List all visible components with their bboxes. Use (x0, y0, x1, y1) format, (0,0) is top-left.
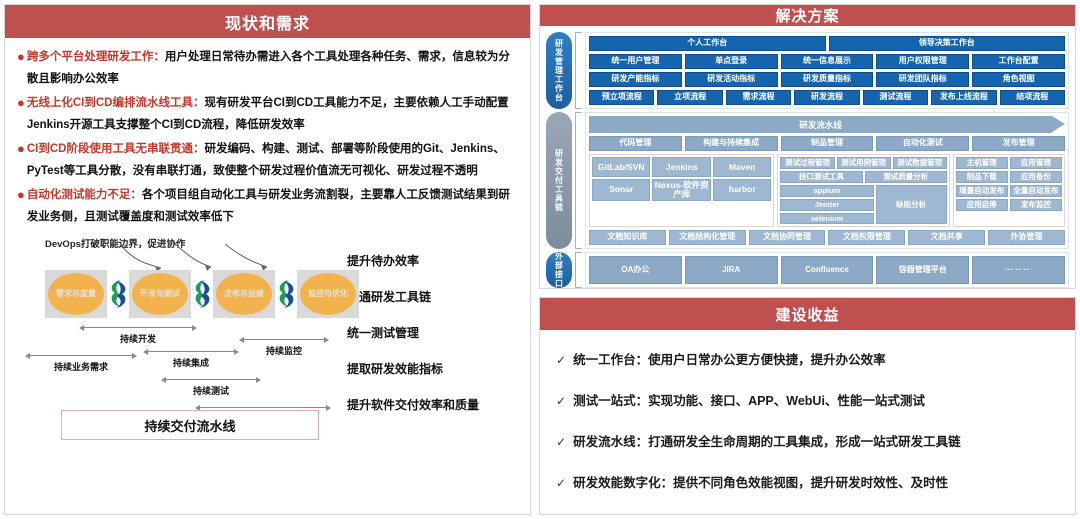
tool-defect-analysis[interactable]: 缺陷分析 (876, 185, 947, 225)
stage-box: 需求与度量 (45, 270, 107, 318)
box-team-metric[interactable]: 研发团队指标 (876, 72, 969, 87)
right-column: 解决方案 研发管理工作台 个人工作台 领导决策工作台 统一用户管理 单点登录 (539, 4, 1076, 515)
list-item: 统一测试管理 (347, 324, 479, 341)
tool-release-monitor[interactable]: 发布监控 (1010, 199, 1062, 211)
layer-tab-workbench: 研发管理工作台 (546, 32, 572, 109)
devops-stage-row: 需求与度量 开发与测试 (45, 270, 359, 318)
box-rd-flow[interactable]: 研发流程 (794, 90, 859, 105)
tool-incremental-deploy[interactable]: 增量自动发布 (956, 185, 1008, 197)
box-user-permission-mgmt[interactable]: 用户权限管理 (876, 54, 969, 69)
box-doc-share[interactable]: 文档共享 (908, 230, 985, 245)
bullet-dot-icon: ● (17, 138, 25, 161)
bracket-icon (575, 252, 582, 288)
tool-test-case-mgmt[interactable]: 测试用例管理 (837, 157, 891, 169)
box-personal-workbench[interactable]: 个人工作台 (589, 36, 826, 51)
list-item: ● 自动化测试能力不足：各个项目组自动化工具与研发业务流割裂，主要靠人工反馈测试… (17, 184, 518, 229)
tool-test-data-mgmt[interactable]: 测试数据管理 (893, 157, 947, 169)
stage-label: 发布与运维 (216, 273, 272, 315)
list-item: ● CI到CD阶段使用工具无串联贯通：研发编码、构建、测试、部署等阶段使用的Gi… (17, 138, 518, 183)
stage-box: 监控与优化 (297, 270, 359, 318)
box-outsourcing-mgmt[interactable]: 外协管理 (988, 230, 1065, 245)
box-project-flow[interactable]: 立项流程 (657, 90, 722, 105)
benefit-panel: 建设收益 ✓ 统一工作台：使用户日常办公更方便快捷，提升办公效率 ✓ 测试一站式… (539, 297, 1076, 515)
box-capacity-metric[interactable]: 研发产能指标 (589, 72, 682, 87)
box-doc-structured-mgmt[interactable]: 文档结构化管理 (669, 230, 746, 245)
box-code-mgmt[interactable]: 代码管理 (589, 136, 682, 151)
span-label: 持续开发 (79, 332, 197, 345)
box-container-platform[interactable]: 容器管理平台 (876, 256, 969, 284)
span-item: 持续开发 (79, 322, 197, 342)
benefit-text: 研发效能数字化：提供不同角色效能视图，提升研发时效性、及时性 (573, 474, 948, 493)
list-item: ✓ 研发流水线：打通研发全生命周期的工具集成，形成一站式研发工具链 (556, 433, 1059, 452)
box-test-flow[interactable]: 测试流程 (863, 90, 928, 105)
tool-full-deploy[interactable]: 全量自动发布 (1010, 185, 1062, 197)
stage-label: 监控与优化 (300, 273, 356, 315)
current-state-bullet-list: ● 跨多个平台处理研发工作：用户处理日常待办需进入各个工具处理各种任务、需求，信… (17, 46, 518, 228)
tool-row: GitLab/SVN Jenkins Maven (592, 157, 771, 177)
list-item: ✓ 测试一站式：实现功能、接口、APP、WebUi、性能一站式测试 (556, 392, 1059, 411)
check-icon: ✓ (556, 351, 566, 369)
box-pre-project-flow[interactable]: 预立项流程 (589, 90, 654, 105)
bracket-icon (575, 112, 582, 249)
left-panel-body: ● 跨多个平台处理研发工作：用户处理日常待办需进入各个工具处理各种任务、需求，信… (5, 38, 530, 514)
tool-test-process-mgmt[interactable]: 测试过程管理 (780, 157, 834, 169)
tool-group-scm: GitLab/SVN Jenkins Maven Sonar Nexus-软件资… (589, 154, 774, 227)
check-icon: ✓ (556, 474, 566, 492)
benefit-list: ✓ 统一工作台：使用户日常办公更方便快捷，提升办公效率 ✓ 测试一站式：实现功能… (540, 330, 1075, 514)
workbench-row-3: 研发产能指标 研发活动指标 研发质量指标 研发团队指标 角色视图 (589, 72, 1065, 87)
span-item: 持续集成 (143, 346, 239, 366)
list-item: ✓ 研发效能数字化：提供不同角色效能视图，提升研发时效性、及时性 (556, 474, 1059, 493)
tool-artifact-download[interactable]: 制品下载 (956, 171, 1008, 183)
bracket-icon (575, 32, 582, 109)
swirl-icon (107, 274, 129, 314)
slide-root: 现状和需求 ● 跨多个平台处理研发工作：用户处理日常待办需进入各个工具处理各种任… (0, 0, 1080, 519)
box-release-mgmt[interactable]: 发布管理 (972, 136, 1065, 151)
bullet-key: 无线上化CI到CD编排流水线工具： (27, 97, 205, 109)
tool-harbor[interactable]: harbor (713, 179, 771, 201)
stage-label: 需求与度量 (48, 273, 104, 315)
layer-external: 外部接口 OA办公 JIRA Confluence 容器管理平台 ·······… (546, 252, 1069, 288)
tool-groups-row: GitLab/SVN Jenkins Maven Sonar Nexus-软件资… (589, 154, 1065, 227)
tool-appium[interactable]: appium (780, 185, 873, 197)
tool-jenkins[interactable]: Jenkins (652, 157, 710, 177)
tool-row: 制品下载 应用备份 (956, 171, 1062, 183)
box-external-more[interactable]: ·········· (972, 256, 1065, 284)
tool-jemter[interactable]: Jemter (780, 199, 873, 211)
box-quality-metric[interactable]: 研发质量指标 (781, 72, 874, 87)
check-icon: ✓ (556, 392, 566, 410)
layer-toolchain: 研发交付工具链 研发流水线 代码管理 构建与持续集成 制品管理 自动化测试 发布… (546, 112, 1069, 249)
swirl-icon (275, 274, 297, 314)
tool-row: Sonar Nexus-软件资产库 harbor (592, 179, 771, 201)
bullet-dot-icon: ● (17, 92, 25, 115)
toolchain-group: 研发流水线 代码管理 构建与持续集成 制品管理 自动化测试 发布管理 Git (585, 112, 1069, 249)
tool-row: 应用启停 发布监控 (956, 199, 1062, 211)
span-item: 持续测试 (161, 374, 261, 394)
tool-host-mgmt[interactable]: 主机管理 (956, 157, 1008, 169)
current-state-panel: 现状和需求 ● 跨多个平台处理研发工作：用户处理日常待办需进入各个工具处理各种任… (4, 4, 531, 515)
tool-app-backup[interactable]: 应用备份 (1010, 171, 1062, 183)
tool-row: appium Jemter selenium 缺陷分析 (780, 185, 946, 225)
workbench-top-row: 个人工作台 领导决策工作台 (589, 36, 1065, 51)
external-row: OA办公 JIRA Confluence 容器管理平台 ·········· (589, 256, 1065, 284)
tool-nexus[interactable]: Nexus-软件资产库 (652, 179, 710, 201)
stage-box: 开发与测试 (129, 270, 191, 318)
external-group: OA办公 JIRA Confluence 容器管理平台 ·········· (585, 252, 1069, 288)
pipeline-banner: 研发流水线 (589, 116, 1052, 133)
box-activity-metric[interactable]: 研发活动指标 (685, 72, 778, 87)
tool-gitlab-svn[interactable]: GitLab/SVN (592, 157, 650, 177)
box-artifact-mgmt[interactable]: 制品管理 (781, 136, 874, 151)
bullet-key: 跨多个平台处理研发工作： (27, 51, 165, 63)
box-workbench-config[interactable]: 工作台配置 (972, 54, 1065, 69)
stage-label: 开发与测试 (132, 273, 188, 315)
tool-app-start-stop[interactable]: 应用启停 (956, 199, 1008, 211)
tool-selenium[interactable]: selenium (780, 213, 873, 225)
tool-row: 主机管理 应用管理 (956, 157, 1062, 169)
list-item: ● 无线上化CI到CD编排流水线工具：现有研发平台CI到CD工具能力不足，主要依… (17, 92, 518, 137)
tool-subcol: appium Jemter selenium (780, 185, 873, 225)
devops-diagram-wrapper: DevOps打破职能边界，促进协作 需求与度量 (17, 234, 518, 510)
span-item: 持续监控 (239, 334, 329, 354)
check-icon: ✓ (556, 433, 566, 451)
box-confluence[interactable]: Confluence (781, 256, 874, 284)
box-jira[interactable]: JIRA (685, 256, 778, 284)
layer-tab-external: 外部接口 (546, 252, 572, 288)
tool-row: 测试过程管理 测试用例管理 测试数据管理 (780, 157, 946, 169)
workbench-row-4: 预立项流程 立项流程 需求流程 研发流程 测试流程 发布上线流程 结项流程 (589, 90, 1065, 105)
left-column: 现状和需求 ● 跨多个平台处理研发工作：用户处理日常待办需进入各个工具处理各种任… (4, 4, 531, 515)
workbench-group: 个人工作台 领导决策工作台 统一用户管理 单点登录 统一信息展示 用户权限管理 … (585, 32, 1069, 109)
span-item: 持续业务需求 (25, 350, 137, 370)
layer-tab-toolchain: 研发交付工具链 (546, 112, 572, 249)
benefit-text: 研发流水线：打通研发全生命周期的工具集成，形成一站式研发工具链 (573, 433, 961, 452)
benefit-text: 测试一站式：实现功能、接口、APP、WebUi、性能一站式测试 (573, 392, 925, 411)
list-item: 提取研发效能指标 (347, 360, 479, 377)
left-panel-title: 现状和需求 (5, 5, 530, 38)
bullet-dot-icon: ● (17, 184, 25, 207)
tool-app-mgmt[interactable]: 应用管理 (1010, 157, 1062, 169)
tool-maven[interactable]: Maven (713, 157, 771, 177)
box-oa[interactable]: OA办公 (589, 256, 682, 284)
devops-diagram: DevOps打破职能边界，促进协作 需求与度量 (17, 234, 333, 434)
layer-workbench: 研发管理工作台 个人工作台 领导决策工作台 统一用户管理 单点登录 统一信息展示… (546, 32, 1069, 109)
tool-test-quality-analysis[interactable]: 测试质量分析 (865, 171, 947, 183)
box-unified-user-mgmt[interactable]: 统一用户管理 (589, 54, 682, 69)
span-label: 持续集成 (143, 356, 239, 369)
tool-group-test: 测试过程管理 测试用例管理 测试数据管理 接口测试工具 测试质量分析 (777, 154, 949, 227)
span-label: 持续监控 (239, 344, 329, 357)
box-doc-permission-mgmt[interactable]: 文档权限管理 (828, 230, 905, 245)
architecture-diagram: 研发管理工作台 个人工作台 领导决策工作台 统一用户管理 单点登录 统一信息展示… (540, 26, 1075, 292)
tool-group-deploy: 主机管理 应用管理 制品下载 应用备份 增量自动发布 全量自动发布 (953, 154, 1065, 227)
tool-row: 增量自动发布 全量自动发布 (956, 185, 1062, 197)
benefit-text: 统一工作台：使用户日常办公更方便快捷，提升办公效率 (573, 351, 886, 370)
span-label: 持续业务需求 (25, 360, 137, 373)
box-leader-workbench[interactable]: 领导决策工作台 (829, 36, 1066, 51)
box-closing-flow[interactable]: 结项流程 (1000, 90, 1065, 105)
box-release-flow[interactable]: 发布上线流程 (931, 90, 996, 105)
document-row: 文档知识库 文档结构化管理 文档协同管理 文档权限管理 文档共享 外协管理 (589, 230, 1065, 245)
box-role-view[interactable]: 角色视图 (972, 72, 1065, 87)
box-doc-collab-mgmt[interactable]: 文档协同管理 (749, 230, 826, 245)
box-sso[interactable]: 单点登录 (685, 54, 778, 69)
span-label: 持续测试 (161, 384, 261, 397)
bullet-key: CI到CD阶段使用工具无串联贯通： (27, 143, 205, 155)
list-item: 提升软件交付效率和质量 (347, 396, 479, 413)
list-item: ✓ 统一工作台：使用户日常办公更方便快捷，提升办公效率 (556, 351, 1059, 370)
swirl-icon (191, 274, 213, 314)
box-doc-knowledge-base[interactable]: 文档知识库 (589, 230, 666, 245)
list-item: 打通研发工具链 (347, 288, 479, 305)
list-item: ● 跨多个平台处理研发工作：用户处理日常待办需进入各个工具处理各种任务、需求，信… (17, 46, 518, 91)
box-auto-test[interactable]: 自动化测试 (876, 136, 969, 151)
continuous-delivery-pipeline-box: 持续交付流水线 (61, 410, 319, 440)
stage-box: 发布与运维 (213, 270, 275, 318)
tool-row: 接口测试工具 测试质量分析 (780, 171, 946, 183)
benefit-panel-title: 建设收益 (540, 298, 1075, 330)
list-item: 提升待办效率 (347, 252, 479, 269)
bullet-dot-icon: ● (17, 46, 25, 69)
workbench-row-2: 统一用户管理 单点登录 统一信息展示 用户权限管理 工作台配置 (589, 54, 1065, 69)
solution-panel: 解决方案 研发管理工作台 个人工作台 领导决策工作台 统一用户管理 单点登录 (539, 4, 1076, 289)
box-requirement-flow[interactable]: 需求流程 (726, 90, 791, 105)
box-build-ci[interactable]: 构建与持续集成 (685, 136, 778, 151)
tool-sonar[interactable]: Sonar (592, 179, 650, 201)
solution-panel-title: 解决方案 (540, 5, 1075, 26)
box-unified-info-display[interactable]: 统一信息展示 (781, 54, 874, 69)
pipeline-stage-row: 代码管理 构建与持续集成 制品管理 自动化测试 发布管理 (589, 136, 1065, 151)
bullet-key: 自动化测试能力不足： (27, 189, 142, 201)
tool-api-test[interactable]: 接口测试工具 (780, 171, 862, 183)
